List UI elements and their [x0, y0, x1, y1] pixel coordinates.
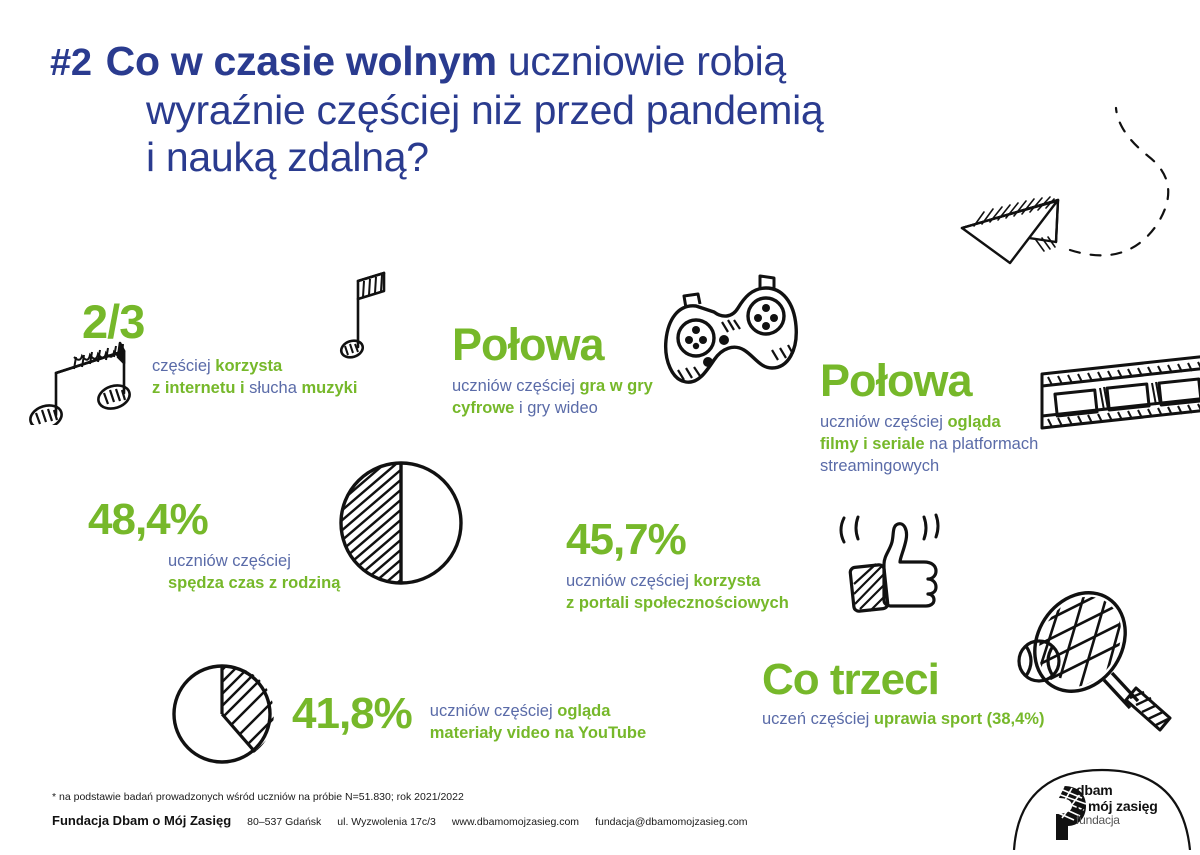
footer-street: ul. Wyzwolenia 17c/3 — [337, 816, 436, 828]
footer-org-line: Fundacja Dbam o Mój Zasięg 80–537 Gdańsk… — [52, 813, 752, 828]
footer-postcode-city: 80–537 Gdańsk — [247, 816, 321, 828]
stat-streaming: Połowa uczniów częściej oglądafilmy i se… — [820, 358, 1110, 477]
stat-value-sport: Co trzeci — [762, 658, 1122, 702]
title-number: #2 — [50, 42, 92, 84]
paper-plane-icon — [940, 100, 1190, 275]
title-rest-1: uczniowie robią — [497, 38, 786, 84]
stat-desc-internet: częściej korzystaz internetu i słucha mu… — [152, 355, 492, 399]
logo-line-2: o mój zasięg — [1076, 799, 1158, 815]
stat-family: 48,4% uczniów częściejspędza czas z rodz… — [88, 498, 448, 594]
stat-value-internet: 2/3 — [82, 298, 492, 345]
stat-games: Połowa uczniów częściej gra w grycyfrowe… — [452, 322, 752, 419]
stat-value-streaming: Połowa — [820, 358, 1110, 403]
infographic-canvas: #2Co w czasie wolnym uczniowie robią wyr… — [0, 0, 1200, 849]
footer-org-name: Fundacja Dbam o Mój Zasięg — [52, 813, 231, 828]
stat-value-youtube: 41,8% — [292, 692, 412, 736]
title-line-1: #2Co w czasie wolnym uczniowie robią — [50, 38, 1130, 87]
stat-social: 45,7% uczniów częściej korzystaz portali… — [566, 518, 866, 614]
stat-value-games: Połowa — [452, 322, 752, 367]
stat-desc-games: uczniów częściej gra w grycyfrowe i gry … — [452, 375, 752, 419]
stat-value-social: 45,7% — [566, 518, 866, 562]
pie-42-icon — [162, 662, 287, 772]
footer-website[interactable]: www.dbamomojzasieg.com — [452, 816, 579, 828]
logo-line-3: fundacja — [1076, 814, 1158, 827]
stat-desc-social: uczniów częściej korzystaz portali społe… — [566, 570, 866, 614]
footer: * na podstawie badań prowadzonych wśród … — [52, 790, 752, 828]
stat-desc-family: uczniów częściejspędza czas z rodziną — [168, 550, 448, 594]
stat-desc-streaming: uczniów częściej oglądafilmy i seriale n… — [820, 411, 1110, 477]
stat-internet: 2/3 częściej korzystaz internetu i słuch… — [82, 298, 492, 399]
footer-note: * na podstawie badań prowadzonych wśród … — [52, 790, 752, 804]
stat-desc-youtube: uczniów częściej oglądamateriały video n… — [430, 700, 730, 744]
logo-text: dbam o mój zasięg fundacja — [1076, 783, 1158, 828]
stat-desc-sport: uczeń częściej uprawia sport (38,4%) — [762, 708, 1122, 730]
logo-line-1: dbam — [1076, 783, 1158, 799]
stat-value-family: 48,4% — [88, 498, 448, 542]
stat-youtube: 41,8% uczniów częściej oglądamateriały v… — [292, 692, 730, 744]
title-emphasis: Co w czasie wolnym — [106, 38, 497, 84]
footer-email[interactable]: fundacja@dbamomojzasieg.com — [595, 816, 748, 828]
stat-sport: Co trzeci uczeń częściej uprawia sport (… — [762, 658, 1122, 730]
